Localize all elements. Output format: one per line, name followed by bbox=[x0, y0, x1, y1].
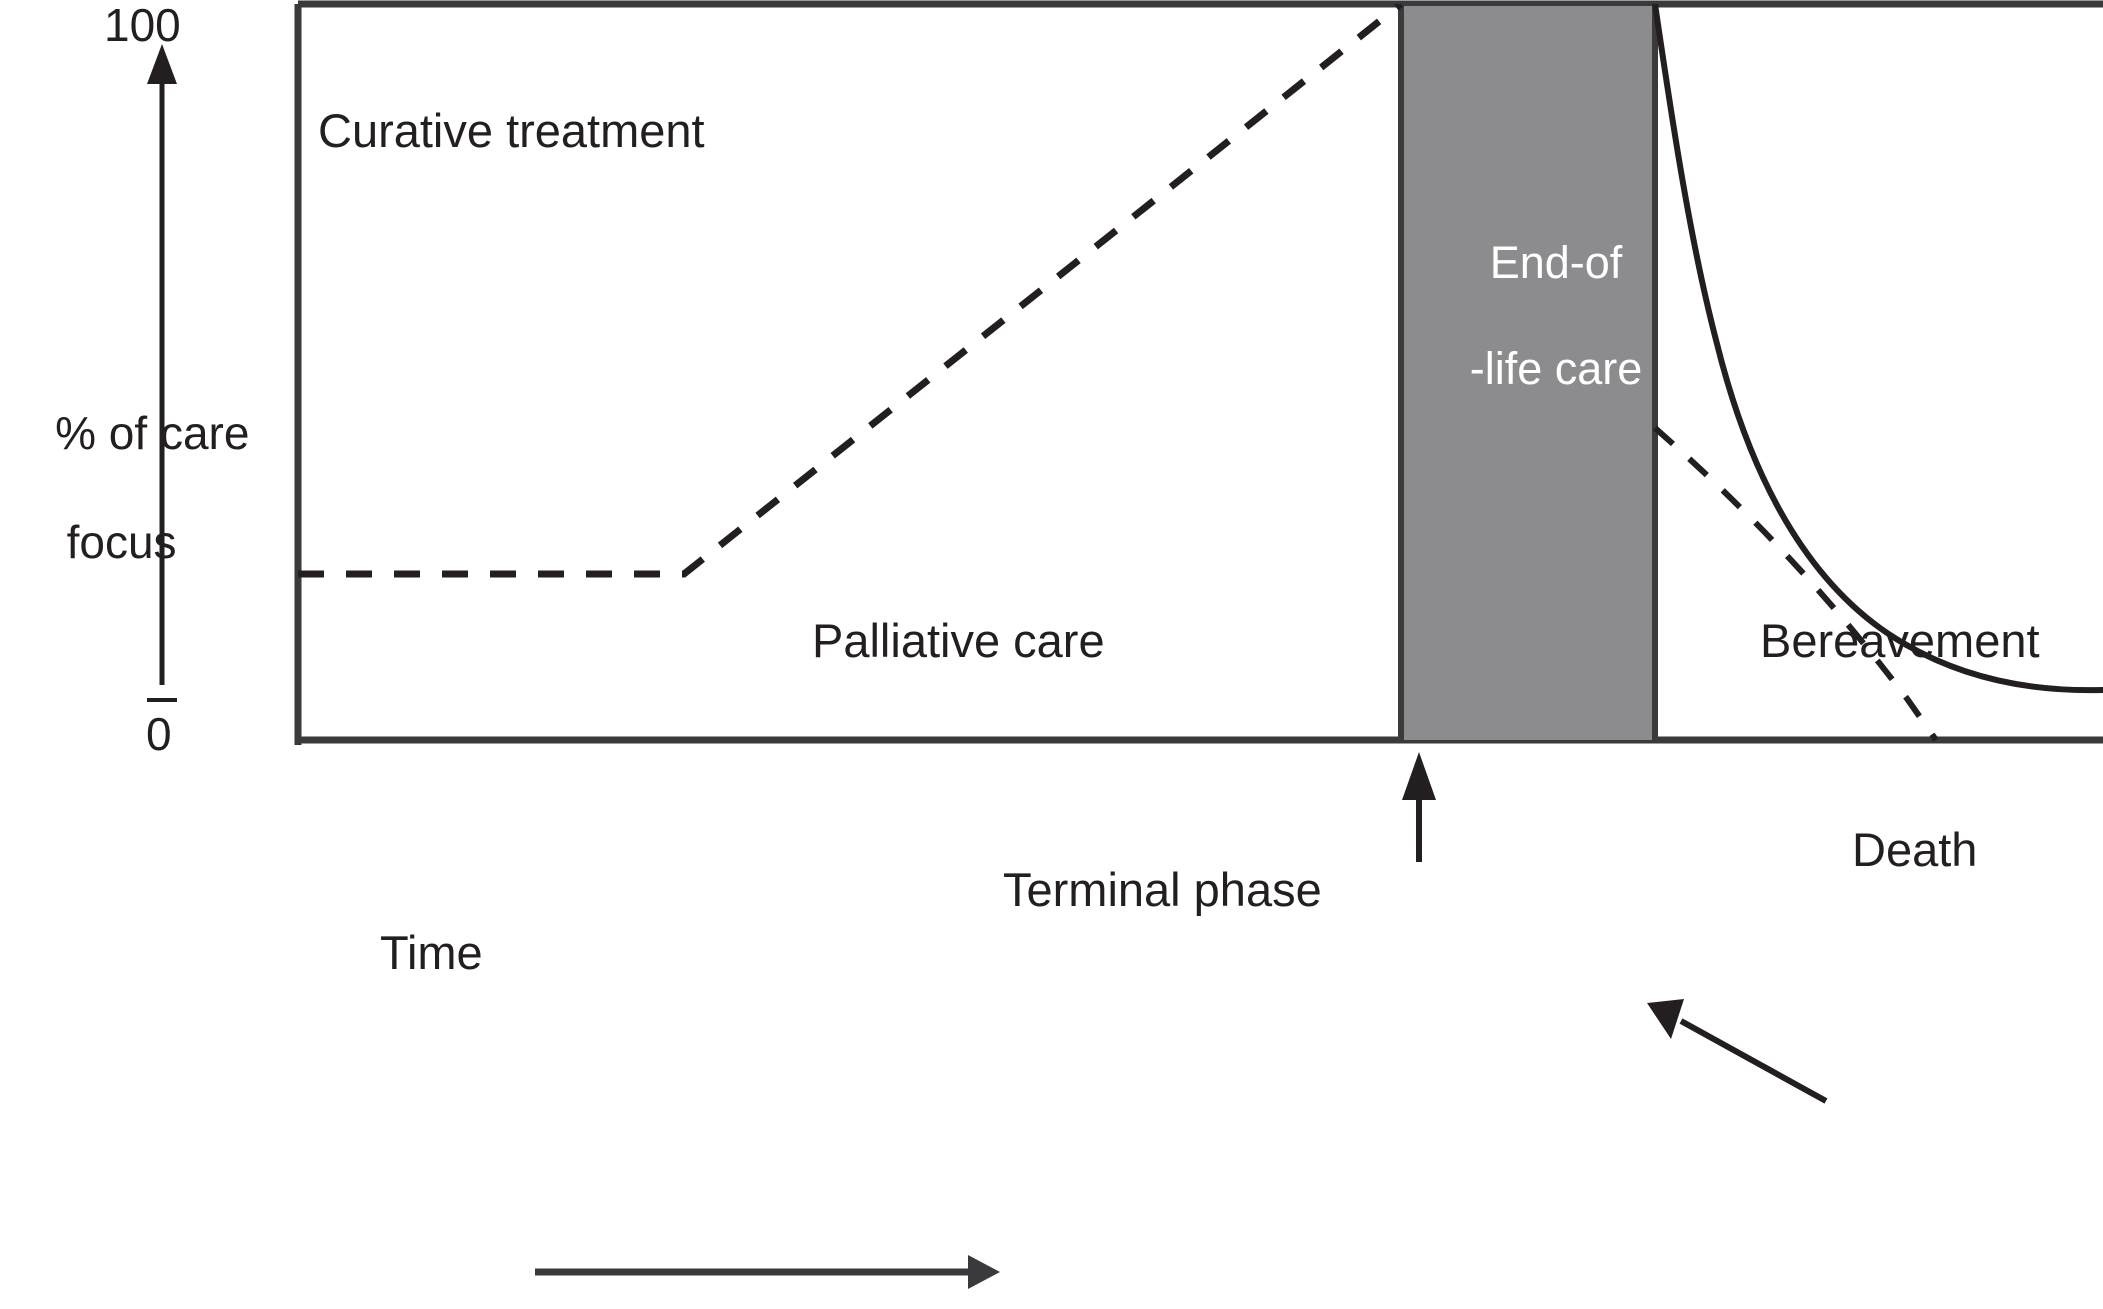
y-axis-title: % of care focus bbox=[4, 352, 188, 623]
annotation-label-death: Death bbox=[1852, 822, 1977, 877]
palliative-care-curve bbox=[1655, 4, 2103, 690]
y-axis-tick-100: 100 bbox=[104, 0, 181, 52]
region-label-bereavement: Bereavement bbox=[1760, 613, 2040, 668]
region-label-palliative-care: Palliative care bbox=[812, 613, 1105, 668]
y-axis-title-line2: focus bbox=[67, 516, 177, 568]
region-label-end-of-life-care: End-of -life care bbox=[1411, 183, 1651, 448]
x-axis-title: Time bbox=[380, 925, 483, 980]
end-of-life-label-line1: End-of bbox=[1490, 237, 1623, 288]
region-label-curative-treatment: Curative treatment bbox=[318, 103, 705, 158]
annotation-label-terminal-phase: Terminal phase bbox=[1003, 862, 1322, 917]
end-of-life-label-line2: -life care bbox=[1470, 343, 1643, 394]
y-axis-title-line1: % of care bbox=[55, 407, 249, 459]
terminal-phase-arrow bbox=[1402, 752, 1436, 862]
y-axis-tick-0: 0 bbox=[146, 707, 172, 761]
death-arrow bbox=[1647, 999, 1826, 1101]
time-axis-arrow bbox=[535, 1255, 1000, 1289]
care-continuum-figure: 100 0 % of care focus Curative treatment… bbox=[0, 0, 2103, 1309]
